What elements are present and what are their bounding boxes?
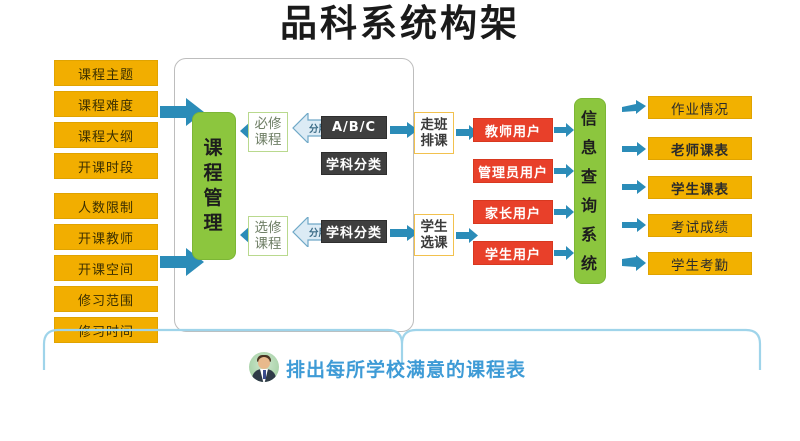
arrow-right-icon-to-attendance — [622, 255, 646, 271]
abc-level-box[interactable]: A/B/C — [321, 116, 387, 139]
chip-label: 课程大纲 — [78, 126, 134, 145]
box-label: A/B/C — [332, 120, 376, 135]
box-line: 走班 — [421, 117, 448, 133]
box-line: 课程 — [255, 236, 282, 252]
box-line: 课程 — [255, 132, 282, 148]
arrow-right-icon-teacher-to-system — [554, 123, 574, 137]
arrow-right-icon-to-homework — [622, 100, 646, 116]
arrow-right-icon-admin-to-system — [554, 164, 574, 178]
core-char: 程 — [203, 161, 224, 186]
core-char: 管 — [203, 186, 224, 211]
system-char: 信 — [581, 104, 599, 133]
chip-label: 学生考勤 — [671, 254, 729, 274]
input-chip-course-difficulty[interactable]: 课程难度 — [54, 91, 158, 117]
chip-label: 考试成绩 — [671, 216, 729, 236]
required-course-box[interactable]: 必修 课程 — [248, 112, 288, 152]
arrow-right-icon-parent-to-system — [554, 205, 574, 219]
core-course-management-box[interactable]: 课 程 管 理 — [192, 112, 236, 260]
arrow-right-icon-student-to-system — [554, 246, 574, 260]
box-label: 学生用户 — [485, 244, 541, 263]
system-char: 统 — [581, 249, 599, 278]
input-chip-capacity-limit[interactable]: 人数限制 — [54, 193, 158, 219]
chip-label: 人数限制 — [78, 197, 134, 216]
user-role-student[interactable]: 学生用户 — [473, 241, 553, 265]
input-chip-teacher[interactable]: 开课教师 — [54, 224, 158, 250]
box-label: 学科分类 — [326, 154, 382, 173]
page-title: 品科系统构架 — [0, 2, 800, 46]
box-line: 选修 — [255, 220, 282, 236]
system-char: 息 — [581, 133, 599, 162]
subject-classification-box-required[interactable]: 学科分类 — [321, 152, 387, 175]
user-role-admin[interactable]: 管理员用户 — [473, 159, 553, 183]
input-chip-classroom[interactable]: 开课空间 — [54, 255, 158, 281]
box-label: 管理员用户 — [478, 162, 548, 181]
chip-label: 修习范围 — [78, 290, 134, 309]
output-chip-exam-scores[interactable]: 考试成绩 — [648, 214, 752, 237]
output-chip-teacher-timetable[interactable]: 老师课表 — [648, 137, 752, 160]
chip-label: 开课空间 — [78, 259, 134, 278]
class-scheduling-box[interactable]: 走班 排课 — [414, 112, 454, 154]
box-line: 必修 — [255, 116, 282, 132]
arrow-right-icon-to-exam-scores — [622, 218, 646, 232]
summary-caption: 排出每所学校满意的课程表 — [286, 355, 526, 382]
input-chip-course-outline[interactable]: 课程大纲 — [54, 122, 158, 148]
user-role-teacher[interactable]: 教师用户 — [473, 118, 553, 142]
chip-label: 作业情况 — [671, 98, 729, 118]
input-chip-course-topic[interactable]: 课程主题 — [54, 60, 158, 86]
chip-label: 开课教师 — [78, 228, 134, 247]
box-line: 排课 — [421, 133, 448, 149]
information-query-system-box[interactable]: 信 息 查 询 系 统 — [574, 98, 606, 284]
arrow-right-icon-to-teacher-timetable — [622, 142, 646, 156]
output-chip-student-attendance[interactable]: 学生考勤 — [648, 252, 752, 275]
output-chip-student-timetable[interactable]: 学生课表 — [648, 176, 752, 199]
core-char: 理 — [203, 211, 224, 236]
chip-label: 老师课表 — [671, 139, 729, 159]
input-chip-study-scope[interactable]: 修习范围 — [54, 286, 158, 312]
box-label: 学科分类 — [326, 222, 382, 241]
avatar-tie — [263, 370, 266, 379]
chip-label: 课程主题 — [78, 64, 134, 83]
elective-course-box[interactable]: 选修 课程 — [248, 216, 288, 256]
avatar — [249, 352, 279, 382]
student-course-selection-box[interactable]: 学生 选课 — [414, 214, 454, 256]
diagram-canvas: 品科系统构架 课程主题 课程难度 课程大纲 开课时段 人数限制 开课教师 开课空… — [0, 0, 800, 441]
box-label: 家长用户 — [485, 203, 541, 222]
chip-label: 课程难度 — [78, 95, 134, 114]
box-line: 选课 — [421, 235, 448, 251]
input-chip-course-period[interactable]: 开课时段 — [54, 153, 158, 179]
system-char: 系 — [581, 220, 599, 249]
user-role-parent[interactable]: 家长用户 — [473, 200, 553, 224]
chip-label: 学生课表 — [671, 178, 729, 198]
box-label: 教师用户 — [485, 121, 541, 140]
chip-label: 开课时段 — [78, 157, 134, 176]
core-char: 课 — [203, 136, 224, 161]
arrow-right-icon-to-student-timetable — [622, 180, 646, 194]
output-chip-homework-status[interactable]: 作业情况 — [648, 96, 752, 119]
subject-classification-box-elective[interactable]: 学科分类 — [321, 220, 387, 243]
avatar-head — [258, 357, 270, 369]
system-char: 询 — [581, 191, 599, 220]
system-char: 查 — [581, 162, 599, 191]
box-line: 学生 — [421, 219, 448, 235]
